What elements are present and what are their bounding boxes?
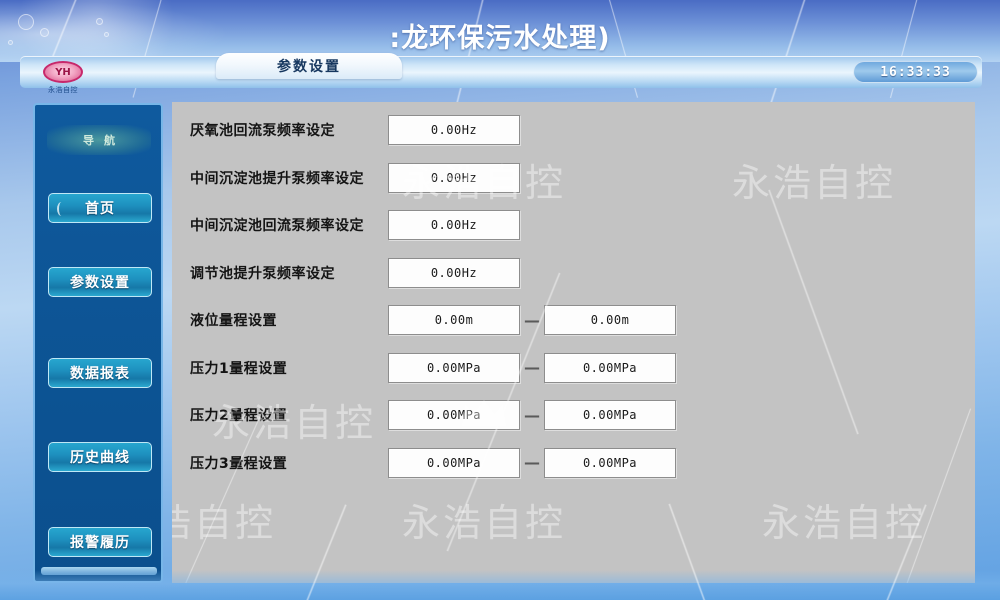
sidebar-item-home[interactable]: 首页 [48, 193, 152, 223]
parameter-input-low[interactable]: 0.00MPa [388, 400, 520, 430]
tab-parameter-settings[interactable]: 参数设置 [216, 53, 402, 79]
parameter-input-high[interactable]: 0.00MPa [544, 400, 676, 430]
scada-screen: :龙环保污水处理) YH 永浩自控 参数设置 16:33:33 导 航 首页 参… [0, 0, 1000, 600]
parameter-row: 厌氧池回流泵频率设定0.00Hz [172, 110, 975, 150]
chevron-left-icon [57, 202, 66, 216]
header-bar [20, 56, 982, 88]
parameter-input[interactable]: 0.00Hz [388, 210, 520, 240]
parameter-rows: 厌氧池回流泵频率设定0.00Hz中间沉淀池提升泵频率设定0.00Hz中间沉淀池回… [172, 102, 975, 583]
page-title: :龙环保污水处理) [0, 16, 1000, 55]
parameter-row: 中间沉淀池回流泵频率设定0.00Hz [172, 205, 975, 245]
parameter-label: 压力3量程设置 [190, 453, 287, 473]
sidebar-banner: 导 航 [47, 125, 151, 155]
parameter-input-high[interactable]: 0.00MPa [544, 353, 676, 383]
sidebar-item-label: 历史曲线 [70, 447, 130, 467]
parameter-label: 压力2量程设置 [190, 405, 287, 425]
parameter-input-low[interactable]: 0.00MPa [388, 353, 520, 383]
parameter-input[interactable]: 0.00Hz [388, 258, 520, 288]
parameter-row: 调节池提升泵频率设定0.00Hz [172, 253, 975, 293]
sidebar-item-alarm-history[interactable]: 报警履历 [48, 527, 152, 557]
clock-display: 16:33:33 [853, 61, 978, 83]
sidebar-item-parameter-settings[interactable]: 参数设置 [48, 267, 152, 297]
sidebar-item-label: 报警履历 [70, 532, 130, 552]
parameter-row: 压力2量程设置0.00MPa—0.00MPa [172, 395, 975, 435]
sidebar-item-label: 数据报表 [70, 363, 130, 383]
logo-mark-icon: YH [43, 61, 83, 83]
parameter-row: 压力3量程设置0.00MPa—0.00MPa [172, 443, 975, 483]
range-separator: — [524, 400, 540, 430]
parameter-input-high[interactable]: 0.00m [544, 305, 676, 335]
sidebar-item-label: 参数设置 [70, 272, 130, 292]
parameter-input-low[interactable]: 0.00MPa [388, 448, 520, 478]
range-separator: — [524, 448, 540, 478]
parameter-row: 液位量程设置0.00m—0.00m [172, 300, 975, 340]
sidebar-item-label: 首页 [85, 198, 115, 218]
parameter-row: 中间沉淀池提升泵频率设定0.00Hz [172, 158, 975, 198]
parameter-label: 调节池提升泵频率设定 [190, 263, 335, 283]
logo-caption: 永浩自控 [48, 85, 78, 95]
parameter-label: 中间沉淀池提升泵频率设定 [190, 168, 364, 188]
parameter-label: 液位量程设置 [190, 310, 277, 330]
parameter-input[interactable]: 0.00Hz [388, 163, 520, 193]
bottom-glow [0, 570, 1000, 600]
parameter-label: 厌氧池回流泵频率设定 [190, 120, 335, 140]
parameter-row: 压力1量程设置0.00MPa—0.00MPa [172, 348, 975, 388]
parameter-label: 中间沉淀池回流泵频率设定 [190, 215, 364, 235]
sidebar-banner-left: 导 [83, 132, 94, 148]
sidebar: 导 航 首页 参数设置 数据报表 历史曲线 报警履历 [33, 103, 163, 583]
company-logo: YH 永浩自控 [34, 56, 92, 100]
parameter-input[interactable]: 0.00Hz [388, 115, 520, 145]
parameter-label: 压力1量程设置 [190, 358, 287, 378]
parameter-input-low[interactable]: 0.00m [388, 305, 520, 335]
parameter-settings-panel: 厌氧池回流泵频率设定0.00Hz中间沉淀池提升泵频率设定0.00Hz中间沉淀池回… [172, 102, 975, 583]
sidebar-item-data-report[interactable]: 数据报表 [48, 358, 152, 388]
range-separator: — [524, 353, 540, 383]
parameter-input-high[interactable]: 0.00MPa [544, 448, 676, 478]
sidebar-item-history-curve[interactable]: 历史曲线 [48, 442, 152, 472]
sidebar-banner-right: 航 [104, 132, 115, 148]
range-separator: — [524, 305, 540, 335]
